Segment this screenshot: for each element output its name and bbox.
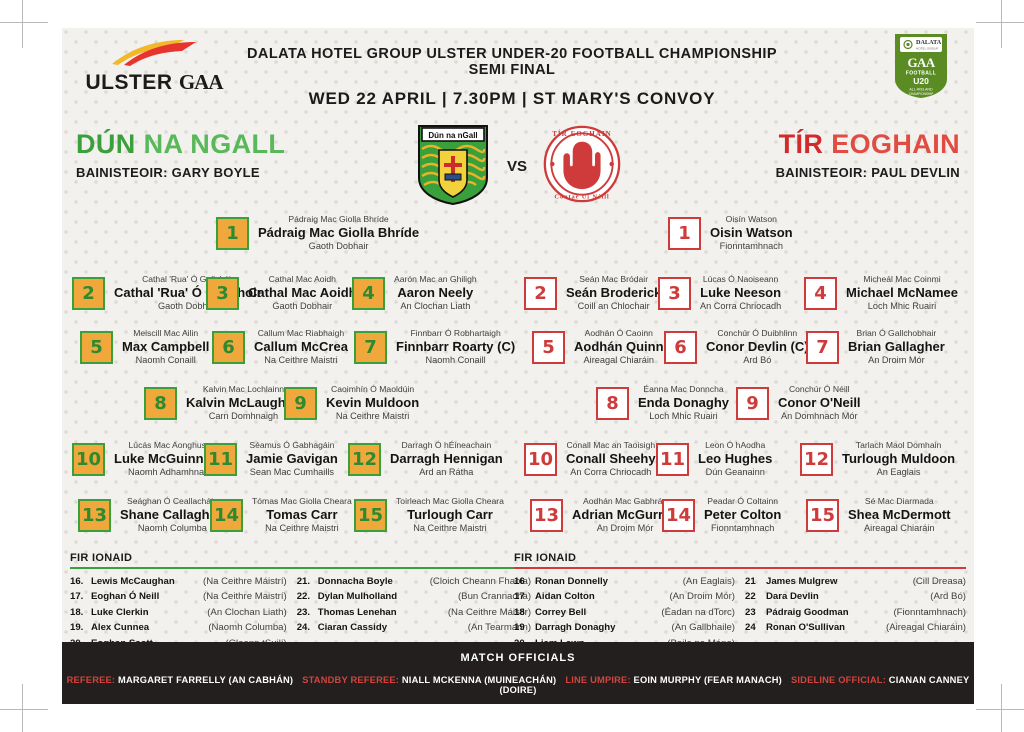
player-name-irish: Brian Ó Gallchobhair [848, 328, 945, 339]
match-datetime-venue: WED 22 APRIL | 7.30PM | ST MARY'S CONVOY [232, 89, 792, 109]
official-role: REFEREE: [67, 675, 118, 685]
player-club: An Droim Mór [848, 355, 945, 366]
substitute-row: 17.Eoghan Ó Neill(Na Ceithre Maistrí) [70, 589, 287, 605]
player-number: 7 [354, 331, 387, 364]
player-number: 11 [204, 443, 237, 476]
player-club: Fionntamhnach [710, 241, 793, 252]
player-number: 10 [524, 443, 557, 476]
substitute-name: Donnacha Boyle [318, 574, 430, 590]
substitute-row: 21.Donnacha Boyle(Cloich Cheann Fhaola) [297, 574, 531, 590]
substitute-club: (Cill Dreasa) [913, 574, 966, 590]
svg-text:HOTEL GROUP: HOTEL GROUP [916, 47, 938, 51]
substitute-row: 18Correy Bell(Éadan na dTorc) [514, 605, 735, 621]
player-club: An Eaglais [842, 467, 955, 478]
player-club: Dún Geanainn [698, 467, 772, 478]
player-name-irish: Aodhán Ó Caoinn [574, 328, 664, 339]
player-number: 10 [72, 443, 105, 476]
player-number: 5 [80, 331, 113, 364]
substitutes: FIR IONAID 16.Lewis McCaughan(Na Ceithre… [62, 552, 974, 640]
player-name-english: Leo Hughes [698, 451, 772, 467]
player-club: An Corra Chriocadh [566, 467, 656, 478]
player-number: 15 [806, 499, 839, 532]
substitute-club: (Fionntamhnach) [893, 605, 966, 621]
official-name: EOIN MURPHY (FEAR MANACH) [634, 675, 782, 685]
substitute-row: 24.Ciaran Cassidy(An Tearmann) [297, 620, 531, 636]
home-manager: BAINISTEOIR: GARY BOYLE [76, 165, 406, 180]
substitute-name: Darragh Donaghy [535, 620, 672, 636]
player-details: Brian Ó GallchobhairBrian GallagherAn Dr… [839, 328, 954, 366]
player-entry: 14Peadar Ó ColtainnPeter ColtonFionntamh… [662, 496, 790, 534]
substitute-name: Thomas Lenehan [318, 605, 448, 621]
crop-mark [22, 684, 23, 732]
player-entry: 12Darragh Ó hÉineachainDarragh HenniganA… [348, 440, 512, 478]
player-entry: 9Caoimhín Ó MaoldúinKevin MuldoonNa Ceit… [284, 384, 428, 422]
gaa-text: GAA [179, 70, 223, 94]
player-name-irish: Meiscill Mac Ailin [122, 328, 209, 339]
player-club: Aireagal Chiaráin [574, 355, 664, 366]
official-name: MARGARET FARRELLY (AN CABHÁN) [118, 675, 293, 685]
player-name-english: Tomas Carr [252, 507, 352, 523]
player-name-irish: Tómas Mac Giolla Cheara [252, 496, 352, 507]
home-team-name-part1: DÚN [76, 129, 136, 159]
player-entry: 3Cathal Mac AoidhCathal Mac AoidhGaoth D… [206, 274, 366, 312]
player-details: Lúcas Ó NaoiseannLuke NeesonAn Corra Chr… [691, 274, 790, 312]
home-team-name: DÚN NA NGALL [76, 130, 406, 158]
away-subs-rule [514, 567, 966, 569]
player-club: Naomh Conaill [122, 355, 209, 366]
player-number: 1 [216, 217, 249, 250]
player-club: Aireagal Chiaráin [848, 523, 951, 534]
substitute-number: 22 [745, 589, 766, 605]
away-team-name: TÍR EOGHAIN [630, 130, 960, 158]
substitute-number: 23 [745, 605, 766, 621]
match-officials-list: REFEREE: MARGARET FARRELLY (AN CABHÁN)ST… [62, 675, 974, 695]
player-details: Conchúr Ó DuibhlinnConor Devlin (C)Ard B… [697, 328, 818, 366]
svg-text:CHAMPIONSHIP: CHAMPIONSHIP [909, 92, 934, 96]
player-name-english: Shea McDermott [848, 507, 951, 523]
player-name-irish: Darragh Ó hÉineachain [390, 440, 503, 451]
player-club: Gaoth Dobhair [248, 301, 357, 312]
substitute-row: 18.Luke Clerkin(An Clochan Liath) [70, 605, 287, 621]
crest-row: Dún na nGall VS [415, 122, 621, 211]
player-details: Leon Ó hAodhaLeo HughesDún Geanainn [689, 440, 781, 478]
player-number: 2 [72, 277, 105, 310]
player-number: 11 [656, 443, 689, 476]
substitute-row: 16.Lewis McCaughan(Na Ceithre Máistrí) [70, 574, 287, 590]
poster-header: ULSTER GAA DALATA HOTEL GROUP ULSTER UND… [62, 28, 974, 120]
substitute-number: 19. [70, 620, 91, 636]
substitute-number: 16. [70, 574, 91, 590]
match-poster: ULSTER GAA DALATA HOTEL GROUP ULSTER UND… [62, 28, 974, 704]
player-name-irish: Peadar Ó Coltainn [704, 496, 781, 507]
crop-mark [0, 709, 48, 710]
player-entry: 15Sé Mac DiarmadaShea McDermottAireagal … [806, 496, 960, 534]
player-details: Seán Mac BródairSeán BroderickCoill an C… [557, 274, 670, 312]
substitute-club: (Na Ceithre Máistrí) [203, 574, 287, 590]
player-name-english: Cathal Mac Aoidh [248, 285, 357, 301]
player-name-english: Jamie Gavigan [246, 451, 338, 467]
player-details: Tarlach Maol DomhainTurlough MuldoonAn E… [833, 440, 964, 478]
player-name-english: Aodhán Quinn [574, 339, 664, 355]
player-entry: 8Éanna Mac DonnchaEnda DonaghyLoch Mhic … [596, 384, 738, 422]
player-number: 6 [664, 331, 697, 364]
player-club: Loch Mhic Ruairi [638, 411, 729, 422]
substitute-number: 24. [297, 620, 318, 636]
crop-mark [1001, 684, 1002, 732]
substitute-row: 17Aidan Colton(An Droim Mór) [514, 589, 735, 605]
player-details: Callum Mac RiabhaighCallum McCreaNa Ceit… [245, 328, 357, 366]
crop-mark [0, 22, 48, 23]
player-name-english: Peter Colton [704, 507, 781, 523]
match-title-block: DALATA HOTEL GROUP ULSTER UNDER-20 FOOTB… [232, 46, 792, 109]
svg-text:DALATA: DALATA [916, 39, 942, 46]
substitute-club: (An Eaglais) [683, 574, 735, 590]
substitute-row: 22Dara Devlin(Ard Bó) [745, 589, 966, 605]
player-club: Naomh Conaill [396, 355, 515, 366]
player-details: Séamus Ó GabhagáinJamie GaviganSean Mac … [237, 440, 347, 478]
player-name-english: Max Campbell [122, 339, 209, 355]
player-entry: 7Finnbarr Ó RobhartaighFinnbarr Roarty (… [354, 328, 524, 366]
player-number: 9 [284, 387, 317, 420]
player-number: 3 [206, 277, 239, 310]
away-subs-title: FIR IONAID [514, 552, 966, 564]
player-number: 8 [144, 387, 177, 420]
svg-text:TÍR EOGHAIN: TÍR EOGHAIN [552, 130, 612, 138]
player-entry: 10Conall Mac an TaoisighConall SheehyAn … [524, 440, 665, 478]
player-number: 12 [800, 443, 833, 476]
player-entry: 4Aarón Mac an GhilighAaron NeelyAn Cloch… [352, 274, 486, 312]
player-number: 13 [530, 499, 563, 532]
player-entry: 5Aodhán Ó CaoinnAodhán QuinnAireagal Chi… [532, 328, 673, 366]
substitute-name: Pádraig Goodman [766, 605, 893, 621]
player-name-irish: Lúcas Ó Naoiseann [700, 274, 781, 285]
home-subs-column-b: 21.Donnacha Boyle(Cloich Cheann Fhaola)2… [297, 574, 531, 652]
home-team-header: DÚN NA NGALL BAINISTEOIR: GARY BOYLE [76, 130, 406, 180]
player-name-english: Callum McCrea [254, 339, 348, 355]
official-role: STANDBY REFEREE: [302, 675, 402, 685]
player-number: 9 [736, 387, 769, 420]
svg-text:Contae Uí Néill: Contae Uí Néill [554, 193, 609, 200]
substitute-number: 18. [70, 605, 91, 621]
substitute-number: 19 [514, 620, 535, 636]
player-entry: 11Séamus Ó GabhagáinJamie GaviganSean Ma… [204, 440, 347, 478]
home-subs-rule [70, 567, 522, 569]
player-name-irish: Séamus Ó Gabhagáin [246, 440, 338, 451]
player-name-english: Oisin Watson [710, 225, 793, 241]
crop-mark [976, 709, 1024, 710]
away-manager-label: BAINISTEOIR: [776, 165, 868, 180]
player-details: Micheál Mac CoinmiMichael McNameeLoch Mh… [837, 274, 967, 312]
home-substitutes: FIR IONAID 16.Lewis McCaughan(Na Ceithre… [70, 552, 522, 651]
ulster-swoosh-icon [108, 40, 216, 68]
player-club: Coill an Chlochair [566, 301, 661, 312]
player-name-irish: Tarlach Maol Domhain [842, 440, 955, 451]
teamsheet-graphic: ULSTER GAA DALATA HOTEL GROUP ULSTER UND… [0, 0, 1024, 732]
substitute-name: Dara Devlin [766, 589, 930, 605]
svg-text:Dún na nGall: Dún na nGall [428, 131, 477, 140]
substitute-name: Ciaran Cassidy [318, 620, 468, 636]
away-roster: 1Oisín WatsonOisin WatsonFionntamhnach2S… [518, 212, 970, 552]
crop-mark [22, 0, 23, 48]
player-club: Loch Mhic Ruairi [846, 301, 958, 312]
player-details: Oisín WatsonOisin WatsonFionntamhnach [701, 214, 802, 252]
substitute-number: 23. [297, 605, 318, 621]
player-number: 14 [662, 499, 695, 532]
rosters: 1Pádraig Mac Giolla BhrídePádraig Mac Gi… [62, 212, 974, 552]
substitute-club: (Na Ceithre Maistrí) [203, 589, 287, 605]
player-details: Finnbarr Ó RobhartaighFinnbarr Roarty (C… [387, 328, 524, 366]
player-number: 12 [348, 443, 381, 476]
substitute-number: 16 [514, 574, 535, 590]
player-number: 6 [212, 331, 245, 364]
player-entry: 6Callum Mac RiabhaighCallum McCreaNa Cei… [212, 328, 357, 366]
player-details: Aarón Mac an GhilighAaron NeelyAn Clocha… [385, 274, 486, 312]
substitute-club: (An Gallbhaile) [672, 620, 735, 636]
player-details: Cathal Mac AoidhCathal Mac AoidhGaoth Do… [239, 274, 366, 312]
substitute-row: 24Ronan O'Sullivan(Aireagal Chiaráin) [745, 620, 966, 636]
home-subs-title: FIR IONAID [70, 552, 522, 564]
donegal-crest: Dún na nGall [415, 122, 491, 211]
player-number: 15 [354, 499, 387, 532]
player-details: Aodhán Ó CaoinnAodhán QuinnAireagal Chia… [565, 328, 673, 366]
player-name-english: Aaron Neely [394, 285, 477, 301]
substitute-name: Ronan O'Sullivan [766, 620, 886, 636]
substitute-number: 22. [297, 589, 318, 605]
player-name-irish: Toirleach Mac Giolla Cheara [396, 496, 504, 507]
substitute-club: (Aireagal Chiaráin) [886, 620, 966, 636]
player-club: Na Ceithre Maistri [254, 355, 348, 366]
player-details: Sé Mac DiarmadaShea McDermottAireagal Ch… [839, 496, 960, 534]
competition-title: DALATA HOTEL GROUP ULSTER UNDER-20 FOOTB… [232, 46, 792, 78]
home-manager-name: GARY BOYLE [172, 165, 260, 180]
player-club: Na Ceithre Maistri [252, 523, 352, 534]
substitute-name: Ronan Donnelly [535, 574, 683, 590]
player-number: 2 [524, 277, 557, 310]
player-entry: 15Toirleach Mac Giolla ChearaTurlough Ca… [354, 496, 513, 534]
player-club: Sean Mac Cumhaills [246, 467, 338, 478]
player-name-irish: Callum Mac Riabhaigh [254, 328, 348, 339]
player-name-irish: Conchúr Ó Néill [778, 384, 861, 395]
substitute-row: 23Pádraig Goodman(Fionntamhnach) [745, 605, 966, 621]
player-name-irish: Caoimhín Ó Maoldúin [326, 384, 419, 395]
player-details: Toirleach Mac Giolla ChearaTurlough Carr… [387, 496, 513, 534]
substitute-club: (An Clochan Liath) [207, 605, 286, 621]
substitute-name: Aidan Colton [535, 589, 669, 605]
player-name-irish: Finnbarr Ó Robhartaigh [396, 328, 515, 339]
player-number: 14 [210, 499, 243, 532]
player-name-english: Enda Donaghy [638, 395, 729, 411]
substitute-name: Alex Cunnea [91, 620, 208, 636]
substitute-name: Correy Bell [535, 605, 661, 621]
player-details: Pádraig Mac Giolla BhrídePádraig Mac Gio… [249, 214, 428, 252]
player-name-english: Darragh Hennigan [390, 451, 503, 467]
player-club: An Clochan Liath [394, 301, 477, 312]
player-club: Gaoth Dobhair [258, 241, 419, 252]
substitute-name: James Mulgrew [766, 574, 913, 590]
home-roster: 1Pádraig Mac Giolla BhrídePádraig Mac Gi… [66, 212, 518, 552]
home-manager-label: BAINISTEOIR: [76, 165, 168, 180]
tyrone-crest: TÍR EOGHAIN Contae Uí Néill [543, 125, 621, 208]
player-details: Conall Mac an TaoisighConall SheehyAn Co… [557, 440, 665, 478]
substitute-name: Luke Clerkin [91, 605, 207, 621]
substitute-club: (Naomh Columba) [208, 620, 286, 636]
player-entry: 11Leon Ó hAodhaLeo HughesDún Geanainn [656, 440, 781, 478]
player-number: 4 [352, 277, 385, 310]
player-name-irish: Oisín Watson [710, 214, 793, 225]
substitute-number: 21. [297, 574, 318, 590]
ulster-text: ULSTER [85, 71, 172, 94]
home-subs-column-a: 16.Lewis McCaughan(Na Ceithre Máistrí)17… [70, 574, 287, 652]
player-details: Peadar Ó ColtainnPeter ColtonFionntamhna… [695, 496, 790, 534]
away-substitutes: FIR IONAID 16Ronan Donnelly(An Eaglais)1… [514, 552, 966, 651]
substitute-row: 22.Dylan Mulholland(Bun Crannacha) [297, 589, 531, 605]
substitute-name: Eoghan Ó Neill [91, 589, 203, 605]
player-entry: 3Lúcas Ó NaoiseannLuke NeesonAn Corra Ch… [658, 274, 790, 312]
ulster-gaa-wordmark: ULSTER GAA [78, 70, 230, 95]
player-name-english: Pádraig Mac Giolla Bhríde [258, 225, 419, 241]
player-entry: 4Micheál Mac CoinmiMichael McNameeLoch M… [804, 274, 967, 312]
player-entry: 6Conchúr Ó DuibhlinnConor Devlin (C)Ard … [664, 328, 818, 366]
player-entry: 5Meiscill Mac AilinMax CampbellNaomh Con… [80, 328, 218, 366]
player-number: 4 [804, 277, 837, 310]
substitute-number: 21 [745, 574, 766, 590]
substitute-club: (Éadan na dTorc) [661, 605, 735, 621]
crop-mark [1001, 0, 1002, 48]
player-entry: 7Brian Ó GallchobhairBrian GallagherAn D… [806, 328, 954, 366]
ulster-gaa-logo: ULSTER GAA [78, 40, 230, 95]
player-name-english: Brian Gallagher [848, 339, 945, 355]
player-name-irish: Micheál Mac Coinmi [846, 274, 958, 285]
player-name-irish: Conall Mac an Taoisigh [566, 440, 656, 451]
substitute-row: 16Ronan Donnelly(An Eaglais) [514, 574, 735, 590]
home-team-name-part2: NA NGALL [144, 129, 286, 159]
away-team-name-part2: EOGHAIN [831, 129, 960, 159]
player-name-english: Michael McNamee [846, 285, 958, 301]
away-team-name-part1: TÍR [779, 129, 824, 159]
player-number: 5 [532, 331, 565, 364]
player-name-english: Conor O'Neill [778, 395, 861, 411]
player-entry: 2Seán Mac BródairSeán BroderickCoill an … [524, 274, 670, 312]
player-details: Darragh Ó hÉineachainDarragh HenniganArd… [381, 440, 512, 478]
substitute-row: 19Darragh Donaghy(An Gallbhaile) [514, 620, 735, 636]
player-details: Conchúr Ó NéillConor O'NeillAn Domhnach … [769, 384, 870, 422]
official-role: LINE UMPIRE: [565, 675, 633, 685]
substitute-number: 17 [514, 589, 535, 605]
away-subs-column-a: 16Ronan Donnelly(An Eaglais)17Aidan Colt… [514, 574, 735, 652]
substitute-name: Lewis McCaughan [91, 574, 203, 590]
player-entry: 1Pádraig Mac Giolla BhrídePádraig Mac Gi… [216, 214, 428, 252]
player-name-english: Kevin Muldoon [326, 395, 419, 411]
substitute-number: 18 [514, 605, 535, 621]
player-name-english: Conall Sheehy [566, 451, 656, 467]
crop-mark [976, 22, 1024, 23]
player-name-english: Luke Neeson [700, 285, 781, 301]
away-subs-column-b: 21James Mulgrew(Cill Dreasa)22Dara Devli… [745, 574, 966, 652]
substitute-club: (An Droim Mór) [669, 589, 735, 605]
player-entry: 1Oisín WatsonOisin WatsonFionntamhnach [668, 214, 802, 252]
player-number: 1 [668, 217, 701, 250]
official-role: SIDELINE OFFICIAL: [791, 675, 889, 685]
player-details: Tómas Mac Giolla ChearaTomas CarrNa Ceit… [243, 496, 361, 534]
player-details: Éanna Mac DonnchaEnda DonaghyLoch Mhic R… [629, 384, 738, 422]
player-name-irish: Seán Mac Bródair [566, 274, 661, 285]
official-name: NIALL MCKENNA (MUINEACHÁN) [402, 675, 556, 685]
away-manager: BAINISTEOIR: PAUL DEVLIN [630, 165, 960, 180]
player-details: Meiscill Mac AilinMax CampbellNaomh Cona… [113, 328, 218, 366]
svg-text:U20: U20 [913, 76, 929, 86]
player-club: Ard an Rátha [390, 467, 503, 478]
player-name-irish: Aarón Mac an Ghiligh [394, 274, 477, 285]
player-name-irish: Pádraig Mac Giolla Bhríde [258, 214, 419, 225]
substitute-row: 23.Thomas Lenehan(Na Ceithre Máistir) [297, 605, 531, 621]
away-team-header: TÍR EOGHAIN BAINISTEOIR: PAUL DEVLIN [630, 130, 960, 180]
player-club: An Corra Chriocadh [700, 301, 781, 312]
team-header-bar: DÚN NA NGALL BAINISTEOIR: GARY BOYLE Dún… [62, 120, 974, 212]
player-name-irish: Éanna Mac Donncha [638, 384, 729, 395]
substitute-row: 19.Alex Cunnea(Naomh Columba) [70, 620, 287, 636]
vs-label: VS [507, 158, 527, 175]
player-entry: 14Tómas Mac Giolla ChearaTomas CarrNa Ce… [210, 496, 361, 534]
player-details: Caoimhín Ó MaoldúinKevin MuldoonNa Ceith… [317, 384, 428, 422]
player-number: 3 [658, 277, 691, 310]
player-number: 8 [596, 387, 629, 420]
substitute-row: 21James Mulgrew(Cill Dreasa) [745, 574, 966, 590]
dalata-u20-championship-badge: DALATA HOTEL GROUP GAA FOOTBALL U20 ALL-… [892, 31, 950, 101]
away-manager-name: PAUL DEVLIN [871, 165, 960, 180]
player-club: An Domhnach Mór [778, 411, 861, 422]
player-club: Na Ceithre Maistri [396, 523, 504, 534]
player-name-english: Turlough Carr [396, 507, 504, 523]
player-name-english: Seán Broderick [566, 285, 661, 301]
match-officials-bar: MATCH OFFICIALS REFEREE: MARGARET FARREL… [62, 642, 974, 704]
player-name-irish: Cathal Mac Aoidh [248, 274, 357, 285]
player-name-english: Conor Devlin (C) [706, 339, 809, 355]
player-name-english: Turlough Muldoon [842, 451, 955, 467]
player-name-irish: Leon Ó hAodha [698, 440, 772, 451]
player-club: Fionntamhnach [704, 523, 781, 534]
player-name-irish: Conchúr Ó Duibhlinn [706, 328, 809, 339]
substitute-club: (Ard Bó) [930, 589, 966, 605]
player-number: 7 [806, 331, 839, 364]
match-officials-title: MATCH OFFICIALS [62, 652, 974, 664]
substitute-number: 17. [70, 589, 91, 605]
player-name-irish: Sé Mac Diarmada [848, 496, 951, 507]
svg-text:GAA: GAA [907, 55, 935, 70]
player-entry: 12Tarlach Maol DomhainTurlough MuldoonAn… [800, 440, 964, 478]
substitute-name: Dylan Mulholland [318, 589, 458, 605]
substitute-number: 24 [745, 620, 766, 636]
player-name-english: Finnbarr Roarty (C) [396, 339, 515, 355]
player-entry: 9Conchúr Ó NéillConor O'NeillAn Domhnach… [736, 384, 870, 422]
player-club: Na Ceithre Maistri [326, 411, 419, 422]
player-number: 13 [78, 499, 111, 532]
player-club: Ard Bó [706, 355, 809, 366]
